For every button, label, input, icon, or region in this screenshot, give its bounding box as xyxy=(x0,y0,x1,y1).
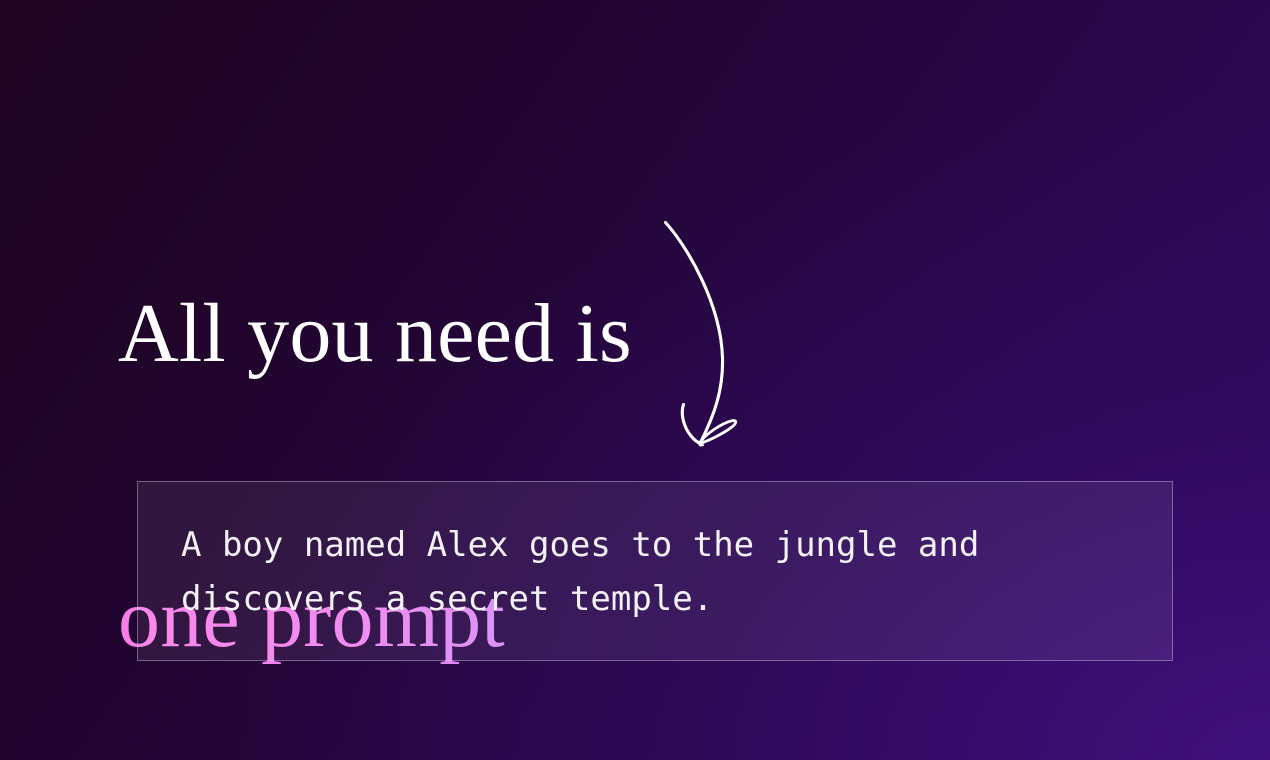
headline-line-primary: All you need is xyxy=(118,286,632,381)
curved-arrow-icon xyxy=(645,200,765,460)
prompt-text[interactable]: A boy named Alex goes to the jungle and … xyxy=(181,518,1131,626)
arrow-head-flourish xyxy=(699,421,736,445)
prompt-input-box[interactable]: A boy named Alex goes to the jungle and … xyxy=(137,481,1173,661)
slide-canvas: All you need is one prompt A boy named A… xyxy=(0,0,1270,760)
arrow-barb-left xyxy=(682,405,700,444)
arrow-shaft xyxy=(666,223,723,442)
